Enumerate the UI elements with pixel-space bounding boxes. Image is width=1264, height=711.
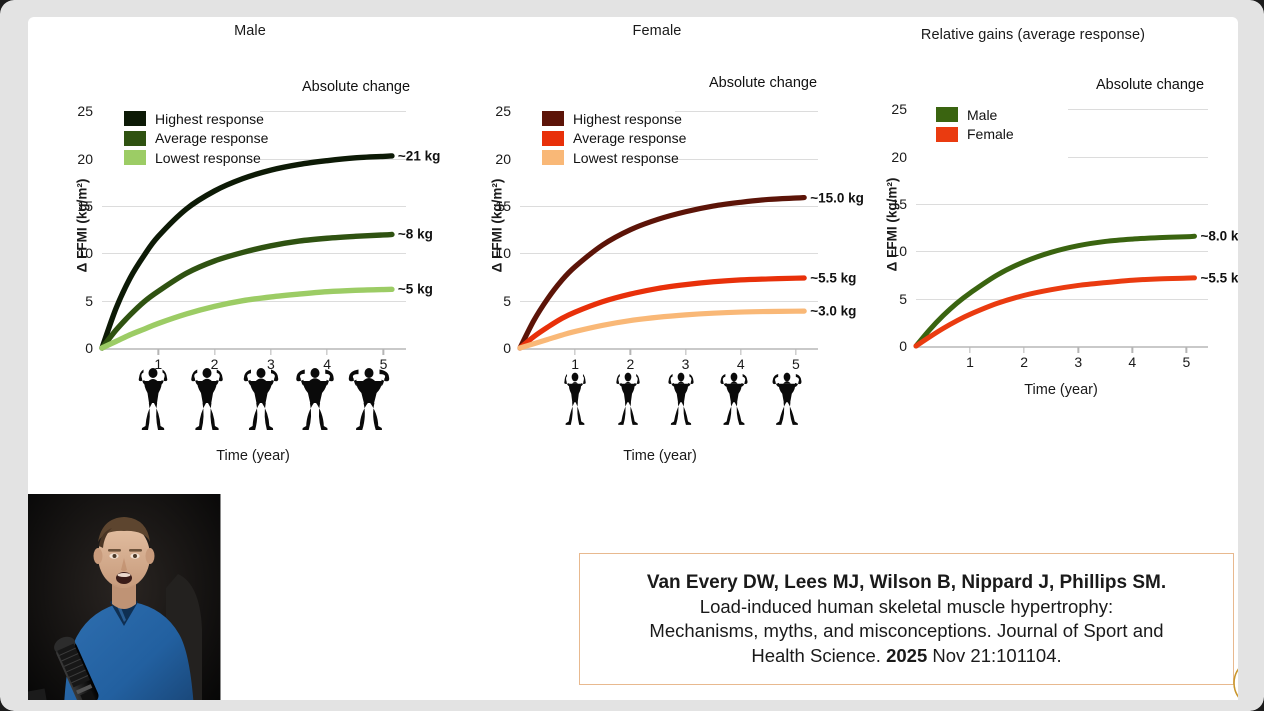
female-silhouette-progression [548,355,814,435]
y-axis-tick-label: 20 [77,151,102,167]
x-axis-line [916,346,1208,348]
legend-label: Male [967,107,997,123]
legend-label: Lowest response [155,150,261,166]
series-end-label: ~8 kg [398,227,433,242]
series-end-label: ~5 kg [398,282,433,297]
y-axis-tick-label: 25 [77,103,102,119]
citation-year: 2025 [886,645,927,666]
series-end-label: ~5.5 kg [1200,270,1238,285]
male-figure-icon [290,361,340,435]
y-axis-tick-label: 20 [891,149,916,165]
legend-swatch-female [936,127,958,142]
x-axis-label-relative: Time (year) [1024,382,1098,398]
male-figure [180,361,234,435]
legend-male: Highest response Average response Lowest… [124,109,268,168]
y-axis-tick-label: 20 [495,151,520,167]
chart-panel-male: Male Absolute change 051015202512345~21 … [40,23,460,463]
presenter-video [28,494,221,700]
y-axis-tick-label: 5 [503,293,520,309]
x-axis-tick-mark [1186,347,1187,353]
y-axis-tick-label: 25 [495,103,520,119]
presentation-slide: Male Absolute change 051015202512345~21 … [28,17,1238,700]
legend-label: Average response [155,130,268,146]
x-axis-line [520,348,818,350]
series-curve [520,198,804,348]
video-player-frame: Male Absolute change 051015202512345~21 … [0,0,1264,711]
y-axis-tick-label: 5 [899,291,916,307]
legend-swatch-highest-response [124,111,146,126]
y-axis-tick-label: 25 [891,101,916,117]
female-figure [761,361,814,435]
citation-journal: Health Science. [751,645,886,666]
legend-relative-gains: Male Female [936,105,1014,144]
male-figure-icon [236,361,286,435]
male-figure-icon [182,361,232,435]
series-end-label: ~21 kg [398,148,440,163]
male-figure-icon [128,361,178,435]
x-axis-tick-mark [1132,347,1133,353]
y-axis-label-relative: Δ FFMI (kg/m²) [885,165,900,285]
chart-title-female: Female [452,23,862,39]
male-figure [234,361,288,435]
legend-item: Lowest response [124,148,268,168]
legend-swatch-highest-response [542,111,564,126]
legend-swatch-lowest-response [542,150,564,165]
legend-item: Highest response [542,109,686,129]
x-axis-tick-label: 2 [1020,354,1028,370]
legend-label: Female [967,126,1014,142]
x-axis-tick-label: 3 [1074,354,1082,370]
female-figure [548,361,601,435]
male-figure-icon [344,361,394,435]
male-figure [342,361,396,435]
citation-authors: Van Every DW, Lees MJ, Wilson B, Nippard… [647,570,1166,595]
citation-pages: Nov 21:101104. [927,645,1061,666]
y-axis-tick-label: 5 [85,293,102,309]
legend-item: Highest response [124,109,268,129]
male-figure [288,361,342,435]
legend-female: Highest response Average response Lowest… [542,109,686,168]
y-axis-label-male: Δ FFMI (kg/m²) [75,166,90,286]
female-figure [708,361,761,435]
x-axis-line [102,348,406,350]
male-silhouette-progression [126,355,396,435]
absolute-change-header-female: Absolute change [709,75,817,91]
female-figure-icon [660,361,702,435]
citation-journal-line: Health Science. 2025 Nov 21:101104. [751,644,1061,668]
legend-item: Lowest response [542,148,686,168]
chart-title-relative-gains: Relative gains (average response) [838,27,1228,43]
chart-title-male: Male [40,23,460,39]
legend-item: Female [936,125,1014,145]
chart-panel-female: Female Absolute change 051015202512345~1… [452,23,862,463]
legend-swatch-male [936,107,958,122]
female-figure [654,361,707,435]
x-axis-tick-label: 1 [966,354,974,370]
legend-label: Highest response [155,111,264,127]
legend-item: Average response [124,129,268,149]
male-figure [126,361,180,435]
legend-swatch-average-response [124,131,146,146]
chart-panel-relative-gains: Relative gains (average response) Absolu… [848,27,1238,407]
x-axis-tick-label: 4 [1128,354,1136,370]
x-axis-tick-label: 5 [1182,354,1190,370]
y-axis-label-female: Δ FFMI (kg/m²) [490,166,505,286]
legend-swatch-average-response [542,131,564,146]
legend-label: Highest response [573,111,682,127]
citation-title-line-1: Load-induced human skeletal muscle hyper… [700,595,1113,619]
female-figure [601,361,654,435]
x-axis-tick-mark [1078,347,1079,353]
legend-label: Average response [573,130,686,146]
webcam-overlay [28,494,221,700]
legend-label: Lowest response [573,150,679,166]
citation-box: Van Every DW, Lees MJ, Wilson B, Nippard… [579,553,1234,685]
legend-item: Male [936,105,1014,125]
female-figure-icon [554,361,596,435]
y-axis-tick-label: 0 [899,338,916,354]
legend-swatch-lowest-response [124,150,146,165]
citation-title-line-2: Mechanisms, myths, and misconceptions. J… [649,619,1163,643]
series-curve [916,278,1194,346]
female-figure-icon [607,361,649,435]
x-axis-tick-mark [969,347,970,353]
x-axis-tick-mark [1023,347,1024,353]
female-figure-icon [766,361,808,435]
legend-item: Average response [542,129,686,149]
absolute-change-header-male: Absolute change [302,79,410,95]
female-figure-icon [713,361,755,435]
x-axis-label-male: Time (year) [216,448,290,464]
absolute-change-header-relative: Absolute change [1096,77,1204,93]
series-end-label: ~8.0 kg [1200,229,1238,244]
x-axis-label-female: Time (year) [623,448,697,464]
